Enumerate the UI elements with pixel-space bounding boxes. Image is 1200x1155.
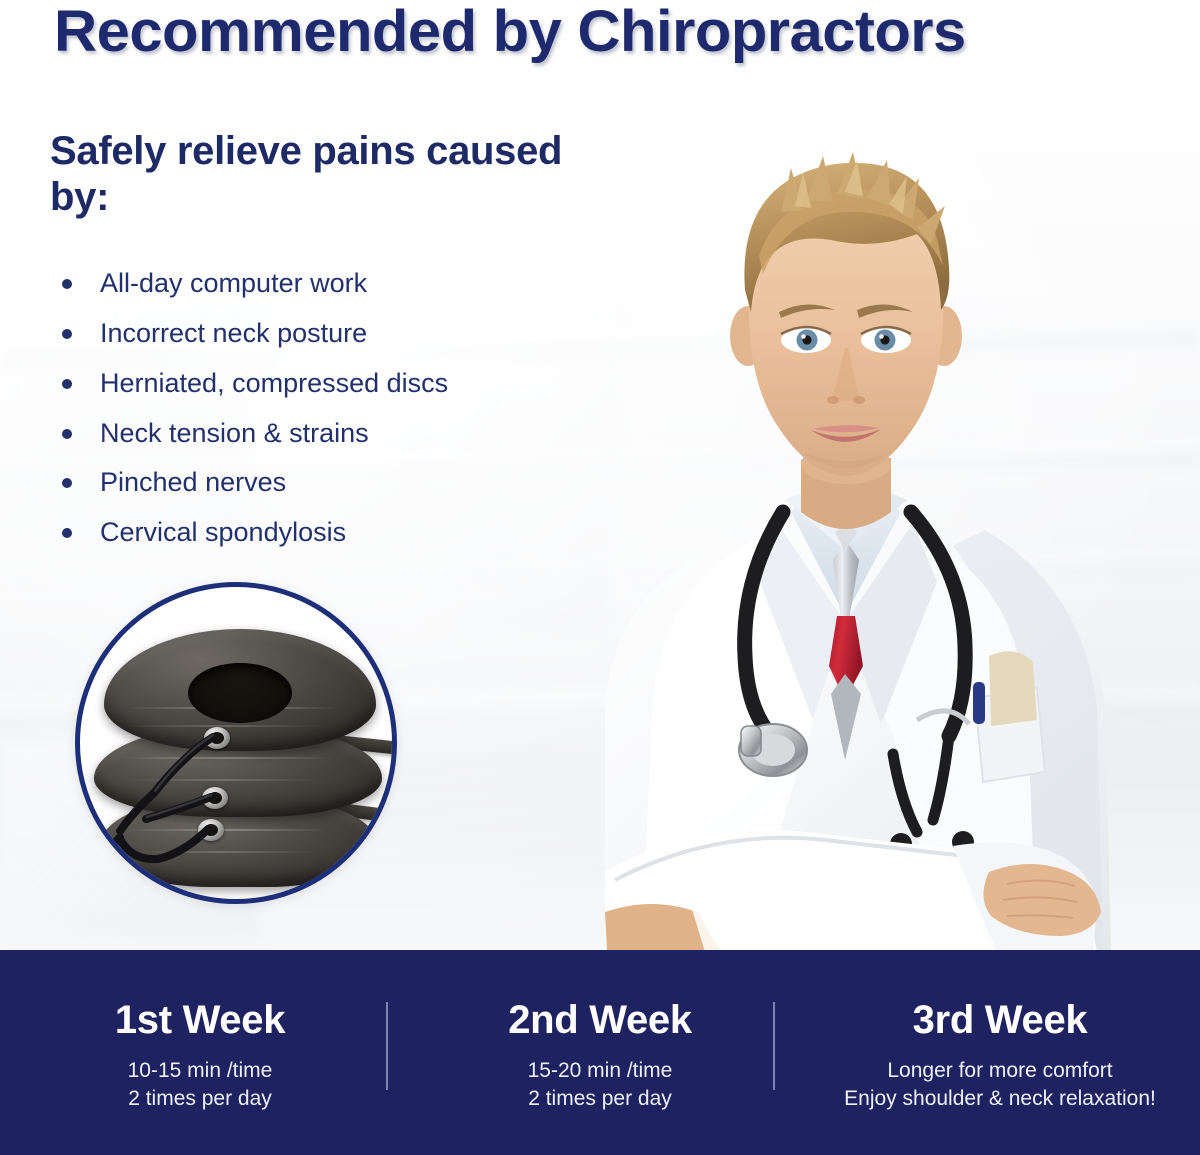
eye-left [781, 327, 831, 353]
bullet-dot-icon [62, 329, 72, 339]
week-detail-line1: 15-20 min /time [528, 1057, 673, 1085]
usage-schedule-band: 1st Week 10-15 min /time 2 times per day… [0, 950, 1200, 1155]
week-title: 1st Week [115, 998, 285, 1043]
eye-right [861, 327, 911, 353]
week-detail: Longer for more comfort Enjoy shoulder &… [844, 1057, 1156, 1113]
list-item-label: Incorrect neck posture [100, 318, 367, 348]
schedule-column-week1: 1st Week 10-15 min /time 2 times per day [0, 950, 400, 1155]
list-item: All-day computer work [52, 268, 592, 300]
week-detail-line2: 2 times per day [128, 1085, 273, 1113]
list-item: Herniated, compressed discs [52, 368, 592, 400]
bullet-dot-icon [62, 379, 72, 389]
pain-causes-list: All-day computer work Incorrect neck pos… [52, 268, 592, 567]
list-item: Pinched nerves [52, 467, 592, 499]
list-item-label: Pinched nerves [100, 467, 286, 497]
bullet-dot-icon [62, 429, 72, 439]
product-image-circle [75, 582, 397, 904]
doctor-photo [545, 60, 1200, 952]
page-title: Recommended by Chiropractors [54, 2, 1200, 63]
stethoscope-chestpiece [739, 724, 807, 776]
week-title: 2nd Week [508, 998, 692, 1043]
list-item-label: All-day computer work [100, 268, 367, 298]
doctor-illustration [545, 60, 1200, 952]
schedule-column-week2: 2nd Week 15-20 min /time 2 times per day [400, 950, 800, 1155]
week-detail: 15-20 min /time 2 times per day [528, 1057, 673, 1113]
week-detail: 10-15 min /time 2 times per day [128, 1057, 273, 1113]
bullet-dot-icon [62, 279, 72, 289]
pocket-pad [989, 651, 1037, 726]
schedule-divider [386, 1002, 388, 1090]
list-item: Neck tension & strains [52, 418, 592, 450]
schedule-column-week3: 3rd Week Longer for more comfort Enjoy s… [800, 950, 1200, 1155]
week-title: 3rd Week [913, 998, 1088, 1043]
air-tube [80, 587, 397, 904]
bullet-dot-icon [62, 528, 72, 538]
list-item: Incorrect neck posture [52, 318, 592, 350]
schedule-divider [773, 1002, 775, 1090]
benefits-subheading: Safely relieve pains caused by: [50, 128, 570, 220]
week-detail-line2: 2 times per day [528, 1085, 673, 1113]
neck-traction-device [80, 587, 392, 899]
list-item-label: Cervical spondylosis [100, 517, 346, 547]
list-item-label: Herniated, compressed discs [100, 368, 448, 398]
list-item-label: Neck tension & strains [100, 418, 369, 448]
week-detail-line1: 10-15 min /time [128, 1057, 273, 1085]
pocket-pen [973, 682, 985, 724]
list-item: Cervical spondylosis [52, 517, 592, 549]
week-detail-line1: Longer for more comfort [844, 1057, 1156, 1085]
week-detail-line2: Enjoy shoulder & neck relaxation! [844, 1085, 1156, 1113]
product-infographic: Recommended by Chiropractors Safely reli… [0, 0, 1200, 1155]
bullet-dot-icon [62, 478, 72, 488]
